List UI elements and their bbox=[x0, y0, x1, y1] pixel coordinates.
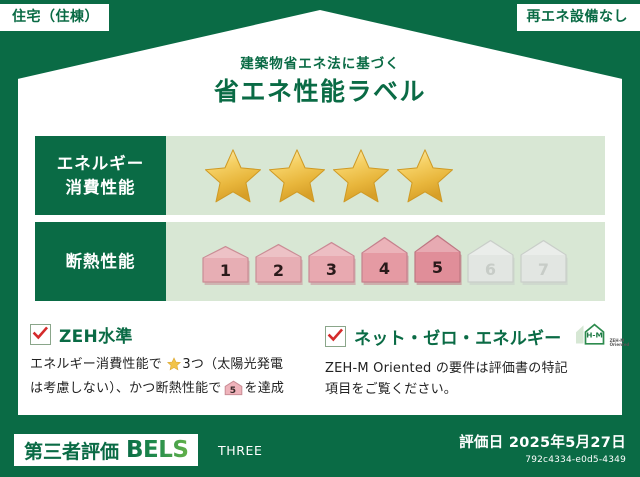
insulation-level-number: 6 bbox=[465, 260, 516, 279]
checkbox-checked-icon bbox=[30, 324, 51, 345]
insulation-level-5: 5 bbox=[412, 233, 463, 290]
insulation-level-number: 3 bbox=[306, 260, 357, 279]
row-label-line2: 消費性能 bbox=[66, 176, 136, 200]
bels-wordmark: BELS bbox=[126, 437, 188, 463]
footer-right-block: 評価日 2025年5月27日 792c4334-e0d5-4349 bbox=[459, 431, 626, 465]
row-insulation-performance: 断熱性能 1234567 bbox=[35, 222, 605, 301]
insulation-level-number: 5 bbox=[412, 258, 463, 277]
note-text-part2: 項目をご覧ください。 bbox=[325, 382, 457, 397]
footer-bar: 第三者評価 BELS THREE 評価日 2025年5月27日 792c4334… bbox=[0, 425, 640, 477]
note-body: エネルギー消費性能で 3つ（太陽光発電 は考慮しない）、かつ断熱性能で 5を達成 bbox=[30, 354, 311, 404]
zeh-m-logo-caption: ZEH-M Oriented bbox=[610, 339, 630, 351]
insulation-level-2: 2 bbox=[253, 242, 304, 290]
insulation-level-scale: 1234567 bbox=[166, 233, 569, 290]
bels-three-label: THREE bbox=[218, 443, 263, 458]
title-block: 建築物省エネ法に基づく 省エネ性能ラベル bbox=[0, 56, 640, 107]
bels-japanese-label: 第三者評価 bbox=[24, 437, 119, 464]
inline-house-number: 5 bbox=[224, 384, 243, 399]
note-title: ZEH水準 bbox=[59, 322, 133, 347]
title-subtitle: 建築物省エネ法に基づく bbox=[0, 56, 640, 72]
note-net-zero-energy: ネット・ゼロ・エネルギー H-M ZEH-M Oriented bbox=[325, 322, 620, 404]
tag-building-type: 住宅（住棟） bbox=[0, 4, 109, 31]
logo-caption-line2: Oriented bbox=[610, 342, 630, 347]
energy-performance-label: 住宅（住棟） 再エネ設備なし 建築物省エネ法に基づく 省エネ性能ラベル エネルギ… bbox=[0, 0, 640, 477]
inline-star-icon bbox=[163, 360, 181, 375]
insulation-level-number: 7 bbox=[518, 260, 569, 279]
insulation-level-number: 4 bbox=[359, 259, 410, 278]
row-body-insulation: 1234567 bbox=[166, 222, 605, 301]
page-title: 省エネ性能ラベル bbox=[0, 77, 640, 107]
note-text-part2: は考慮しない）、かつ断熱性能で bbox=[30, 381, 222, 396]
note-title: ネット・ゼロ・エネルギー bbox=[354, 324, 562, 349]
note-zeh-standard: ZEH水準 エネルギー消費性能で 3つ（太陽光発電 は考慮しない）、かつ断熱性能… bbox=[30, 322, 325, 404]
star-filled-icon bbox=[395, 147, 455, 205]
insulation-level-1: 1 bbox=[200, 244, 251, 290]
zeh-m-house-icon: H-M bbox=[574, 322, 608, 351]
checkbox-checked-icon bbox=[325, 326, 346, 347]
row-label-line1: エネルギー bbox=[57, 152, 145, 176]
star-filled-icon bbox=[331, 147, 391, 205]
note-text-part1: ZEH-M Oriented の要件は評価書の特記 bbox=[325, 361, 568, 376]
insulation-level-number: 2 bbox=[253, 261, 304, 280]
evaluation-date: 評価日 2025年5月27日 bbox=[459, 431, 626, 452]
inline-house-badge: 5 bbox=[224, 380, 243, 403]
zeh-m-oriented-logo: H-M ZEH-M Oriented bbox=[574, 322, 630, 351]
row-energy-consumption: エネルギー 消費性能 bbox=[35, 136, 605, 215]
insulation-level-number: 1 bbox=[200, 261, 251, 280]
insulation-level-3: 3 bbox=[306, 240, 357, 290]
insulation-level-4: 4 bbox=[359, 235, 410, 290]
bels-logo: 第三者評価 BELS bbox=[14, 434, 198, 466]
insulation-level-7: 7 bbox=[518, 238, 569, 290]
note-text-part3: を達成 bbox=[245, 381, 285, 396]
row-label-energy-consumption: エネルギー 消費性能 bbox=[35, 136, 166, 215]
certificate-serial: 792c4334-e0d5-4349 bbox=[459, 455, 626, 465]
note-text-part1: エネルギー消費性能で bbox=[30, 357, 162, 372]
rating-rows: エネルギー 消費性能 断熱性能 1234567 bbox=[35, 136, 605, 308]
star-filled-icon bbox=[203, 147, 263, 205]
note-header: ネット・ゼロ・エネルギー H-M ZEH-M Oriented bbox=[325, 322, 606, 351]
notes-section: ZEH水準 エネルギー消費性能で 3つ（太陽光発電 は考慮しない）、かつ断熱性能… bbox=[30, 322, 620, 404]
star-rating bbox=[166, 147, 455, 205]
note-text-stars: 3つ（太陽光発電 bbox=[182, 357, 283, 372]
row-label-insulation: 断熱性能 bbox=[35, 222, 166, 301]
note-header: ZEH水準 bbox=[30, 322, 311, 347]
tag-renewable-equipment: 再エネ設備なし bbox=[517, 4, 640, 31]
star-filled-icon bbox=[267, 147, 327, 205]
insulation-level-6: 6 bbox=[465, 238, 516, 290]
row-body-energy-consumption bbox=[166, 136, 605, 215]
zeh-m-logo-text: H-M bbox=[586, 331, 603, 340]
note-body: ZEH-M Oriented の要件は評価書の特記 項目をご覧ください。 bbox=[325, 358, 606, 401]
row-label-line1: 断熱性能 bbox=[66, 250, 136, 274]
